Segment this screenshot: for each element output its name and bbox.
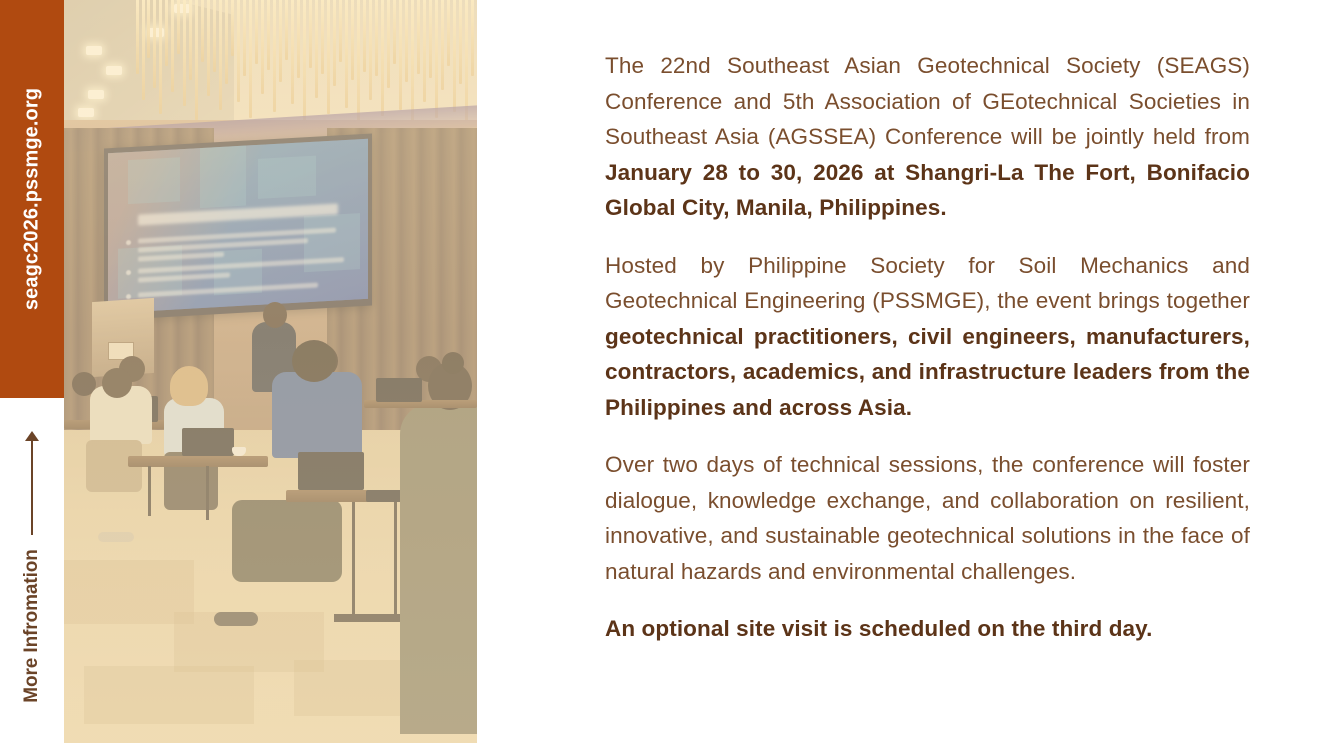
paragraph-event-details: The 22nd Southeast Asian Geotechnical So… bbox=[605, 48, 1250, 226]
text-column: The 22nd Southeast Asian Geotechnical So… bbox=[605, 48, 1250, 647]
projection-screen bbox=[108, 139, 368, 314]
arrow-up-stem bbox=[31, 435, 33, 535]
projection-screen-frame bbox=[104, 134, 372, 321]
conference-photo bbox=[64, 0, 477, 743]
paragraph-sessions: Over two days of technical sessions, the… bbox=[605, 447, 1250, 589]
audience-person bbox=[272, 372, 362, 458]
slide-root: seagc2026.pssmge.org More Infromation bbox=[0, 0, 1320, 743]
sidebar-orange-block: seagc2026.pssmge.org bbox=[0, 0, 64, 398]
left-sidebar: seagc2026.pssmge.org More Infromation bbox=[0, 0, 64, 743]
paragraph-host: Hosted by Philippine Society for Soil Me… bbox=[605, 248, 1250, 426]
ceiling-light bbox=[78, 108, 94, 117]
foreground-person bbox=[400, 404, 477, 734]
para2-bold: geotechnical practitioners, civil engine… bbox=[605, 324, 1250, 420]
ceiling-light bbox=[88, 90, 104, 99]
ceiling-light bbox=[86, 46, 102, 55]
speaker-head bbox=[263, 302, 287, 328]
audience-head bbox=[102, 368, 132, 398]
ceiling-light bbox=[106, 66, 122, 75]
para1-plain: The 22nd Southeast Asian Geotechnical So… bbox=[605, 53, 1250, 149]
photo-scene bbox=[64, 0, 477, 743]
sidebar-more-information-label: More Infromation bbox=[21, 549, 43, 703]
paragraph-site-visit: An optional site visit is scheduled on t… bbox=[605, 611, 1250, 647]
sidebar-website-url[interactable]: seagc2026.pssmge.org bbox=[21, 88, 44, 310]
para1-bold: January 28 to 30, 2026 at Shangri-La The… bbox=[605, 160, 1250, 221]
monitor bbox=[182, 428, 234, 456]
audience-head bbox=[292, 340, 336, 382]
para3-plain: Over two days of technical sessions, the… bbox=[605, 452, 1250, 584]
para2-plain: Hosted by Philippine Society for Soil Me… bbox=[605, 253, 1250, 314]
audience-head bbox=[170, 366, 208, 406]
monitor bbox=[298, 452, 364, 490]
